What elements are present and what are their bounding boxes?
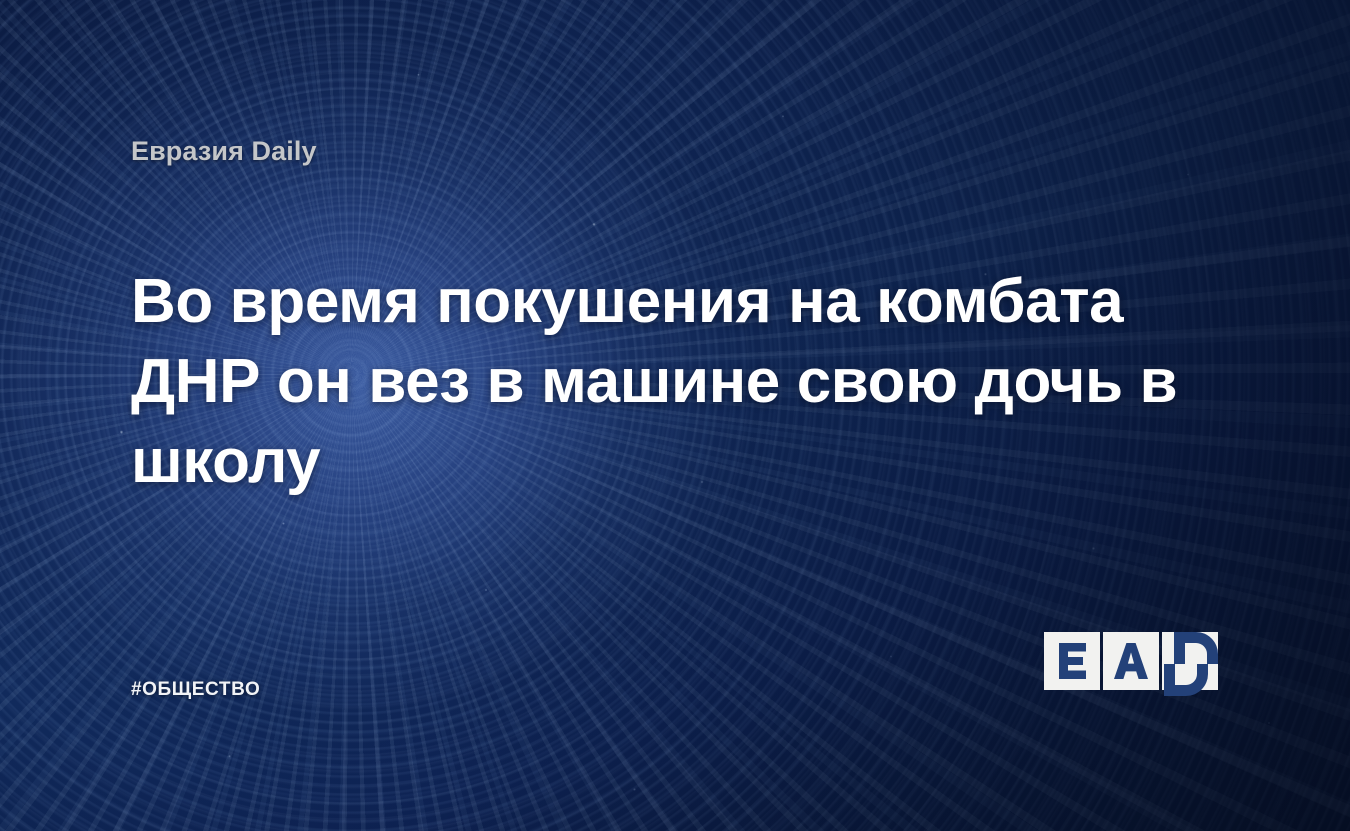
eadaily-logo[interactable] [1044,632,1220,690]
news-card: Евразия Daily Во время покушения на комб… [0,0,1350,831]
logo-tile-a-icon [1103,632,1159,690]
card-content: Евразия Daily Во время покушения на комб… [0,0,1350,831]
headline: Во время покушения на комбата ДНР он вез… [131,262,1201,502]
logo-tile-e [1044,632,1100,690]
logo-tile-e-icon [1044,632,1100,690]
logo-tile-d [1162,632,1218,690]
logo-tile-a [1103,632,1159,690]
category-tag[interactable]: #ОБЩЕСТВО [131,679,260,701]
site-name[interactable]: Евразия Daily [131,136,317,167]
